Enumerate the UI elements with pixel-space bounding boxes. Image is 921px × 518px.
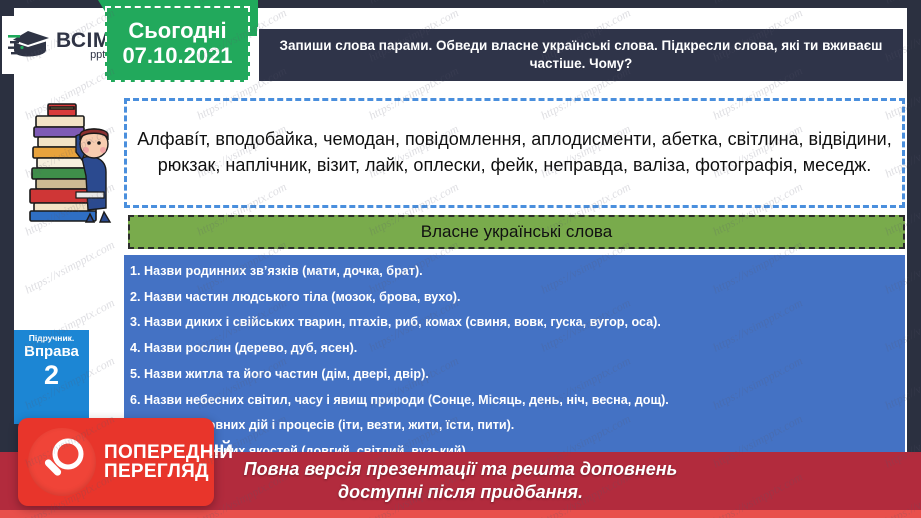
task-header-text: Запиши слова парами. Обведи власне украї… <box>269 37 893 73</box>
green-banner-label: Власне українські слова <box>421 222 612 242</box>
date-badge: Сьогодні 07.10.2021 <box>105 6 250 82</box>
purchase-notice-line1: Повна версія презентації та решта доповн… <box>244 459 678 479</box>
watermark-text: https://vsimpptx.com <box>710 0 805 8</box>
watermark-text: https://vsimpptx.com <box>538 0 633 8</box>
watermark-text: https://vsimpptx.com <box>882 0 921 8</box>
textbook-label: Підручник. <box>14 334 89 343</box>
list-item: 1. Назви родинних зв’язків (мати, дочка,… <box>130 264 899 280</box>
preview-line1: ПОПЕРЕДНІЙ <box>104 443 233 462</box>
boy-with-books-illustration <box>20 96 124 224</box>
task-header: Запиши слова парами. Обведи власне украї… <box>257 27 905 83</box>
purchase-notice-text: Повна версія презентації та решта доповн… <box>244 458 678 504</box>
list-item: 5. Назви житла та його частин (дім, двер… <box>130 367 899 383</box>
preview-line2: ПЕРЕГЛЯД <box>104 462 233 481</box>
red-bottom-strip <box>0 510 921 518</box>
list-item: 2. Назви частин людського тіла (мозок, б… <box>130 290 899 306</box>
category-list: 1. Назви родинних зв’язків (мати, дочка,… <box>124 255 905 463</box>
list-item: 7. Назви основних дій і процесів (іти, в… <box>130 418 899 434</box>
list-item: 6. Назви небесних світил, часу і явищ пр… <box>130 393 899 409</box>
list-item: 3. Назви диких і свійських тварин, птахі… <box>130 315 899 331</box>
purchase-notice-line2: доступні після придбання. <box>338 482 583 502</box>
preview-watermark-badge: ПОПЕРЕДНІЙ ПЕРЕГЛЯД <box>18 418 214 506</box>
exercise-number: 2 <box>14 361 89 389</box>
exercise-card: Підручник. Вправа 2 <box>14 330 89 424</box>
word-list-text: Алфавíт, вподобайка, чемодан, повідомлен… <box>137 127 892 178</box>
graduation-cap-icon <box>8 25 52 65</box>
today-label: Сьогодні <box>128 19 226 43</box>
brand-logo: ВСІМ pptx <box>2 16 120 74</box>
magnifier-icon <box>28 428 96 496</box>
exercise-label: Вправа <box>14 343 89 360</box>
logo-name: ВСІМ <box>56 30 111 51</box>
watermark-text: https://vsimpptx.com <box>366 0 461 8</box>
date-value: 07.10.2021 <box>122 43 232 68</box>
slide-root: ВСІМ pptx Сьогодні 07.10.2021 Запиши сло… <box>0 0 921 518</box>
word-list-box: Алфавíт, вподобайка, чемодан, повідомлен… <box>124 98 905 208</box>
green-category-banner: Власне українські слова <box>128 215 905 249</box>
list-item: 4. Назви рослин (дерево, дуб, ясен). <box>130 341 899 357</box>
